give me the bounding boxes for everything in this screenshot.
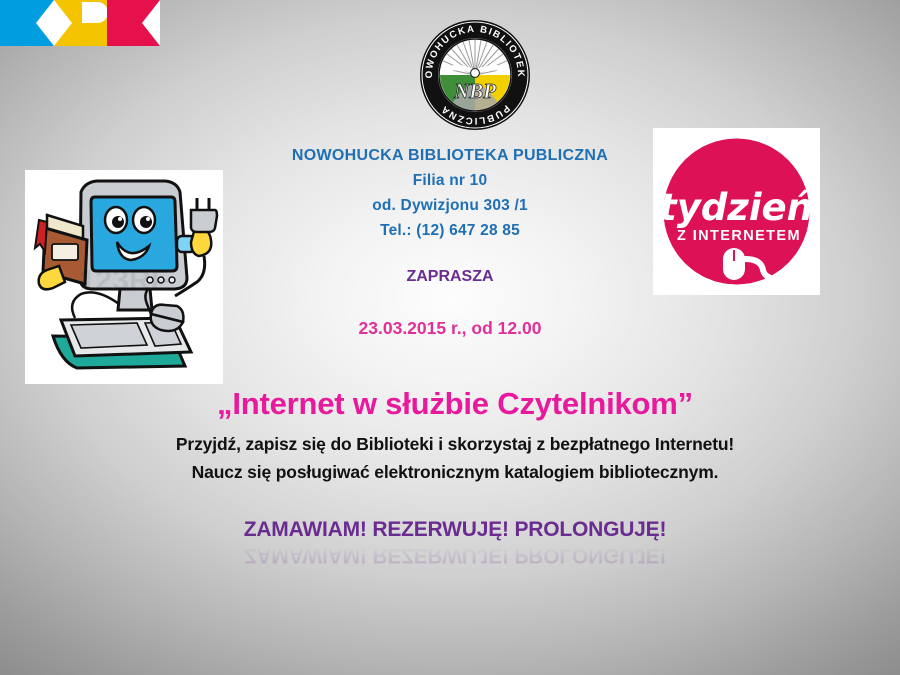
header-line-street: od. Dywizjonu 303 /1 — [210, 193, 690, 218]
library-emblem-logo: NOWOHUCKA BIBLIOTEKA PUBLICZNA — [418, 18, 532, 132]
slogan-reflection-text: ZAMAWIAM! REZERWUJĘ! PROLONGUJĘ! — [60, 543, 850, 567]
plug-prongs-icon — [197, 198, 209, 210]
header-line-branch: Filia nr 10 — [210, 168, 690, 193]
body-copy-line-1: Przyjdź, zapisz się do Biblioteki i skor… — [60, 430, 850, 458]
krk-logo-block-red — [107, 0, 160, 46]
mascot-pupil-right — [140, 216, 152, 228]
body-copy-line-2: Naucz się posługiwać elektronicznym kata… — [60, 458, 850, 486]
invitation-text: ZAPRASZA — [210, 268, 690, 286]
monitor-led — [169, 277, 175, 283]
slogan-block: ZAMAWIAM! REZERWUJĘ! PROLONGUJĘ! ZAMAWIA… — [60, 518, 850, 567]
book-bookmark — [35, 220, 47, 252]
body-copy-block: Przyjdź, zapisz się do Biblioteki i skor… — [60, 430, 850, 486]
badge-sub-text: Z INTERNETEM — [677, 228, 801, 244]
book-label — [52, 244, 78, 260]
computer-mascot-svg: 123RF — [25, 170, 223, 384]
krk-logo-block-cyan — [0, 0, 54, 46]
krk-chevron-icon — [36, 0, 54, 46]
header-line-phone: Tel.: (12) 647 28 85 — [210, 218, 690, 243]
mascot-eye-glint-left — [118, 217, 122, 221]
emblem-center-dot — [471, 69, 480, 78]
mascot-pupil-left — [112, 216, 124, 228]
tydzien-badge-svg: tydzień Z INTERNETEM — [653, 128, 820, 295]
page-title: „Internet w służbie Czytelnikom” — [60, 386, 850, 422]
stock-watermark: 123RF — [79, 264, 169, 297]
mascot-eye-glint-right — [146, 217, 150, 221]
library-emblem-svg: NOWOHUCKA BIBLIOTEKA PUBLICZNA — [418, 18, 532, 132]
krk-city-logo — [0, 0, 160, 46]
header-line-institution: NOWOHUCKA BIBLIOTEKA PUBLICZNA — [210, 143, 690, 168]
tydzien-z-internetem-badge: tydzień Z INTERNETEM — [653, 128, 820, 295]
library-address-block: NOWOHUCKA BIBLIOTEKA PUBLICZNA Filia nr … — [210, 143, 690, 243]
emblem-monogram: NBP — [453, 79, 496, 103]
krk-chevron-icon — [54, 0, 72, 46]
computer-mascot-illustration: 123RF — [25, 170, 223, 384]
badge-script-text: tydzień — [659, 186, 813, 229]
poster-canvas: NOWOHUCKA BIBLIOTEKA PUBLICZNA — [0, 0, 900, 675]
event-date-text: 23.03.2015 r., od 12.00 — [210, 318, 690, 339]
krk-bowl-shape-icon — [82, 2, 107, 23]
slogan-text: ZAMAWIAM! REZERWUJĘ! PROLONGUJĘ! — [60, 518, 850, 542]
power-plug-icon — [191, 210, 217, 232]
keyboard-main-keys — [71, 323, 147, 348]
krk-logo-block-yellow — [54, 0, 107, 46]
krk-chevron-icon — [142, 0, 160, 46]
